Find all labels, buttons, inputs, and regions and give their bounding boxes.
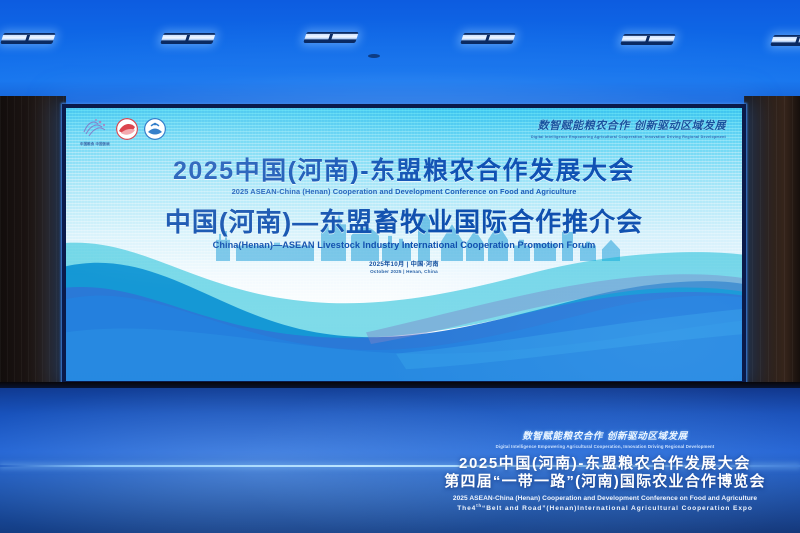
conference-title-cn: 2025中国(河南)-东盟粮农合作发展大会 xyxy=(66,158,742,184)
red-circular-emblem-logo-icon xyxy=(116,118,138,140)
ceiling-light-icon xyxy=(620,34,676,45)
ceiling-light-icon xyxy=(303,32,359,43)
screen-slogan-en: Digital Intelligence Empowering Agricult… xyxy=(531,135,726,139)
event-date-en: October 2025 | Henan, China xyxy=(66,269,742,275)
blue-circular-emblem-logo-icon xyxy=(144,118,166,140)
ceiling-light-icon xyxy=(460,33,516,44)
forum-title-cn: 中国(河南)—东盟畜牧业国际合作推介会 xyxy=(66,209,742,236)
banner-title-en-2-pre: The4 xyxy=(457,505,476,512)
logo-group xyxy=(80,116,166,142)
banner-title-cn-2: 第四届“一带一路”(河南)国际农业合作博览会 xyxy=(420,473,790,490)
wave-emblem-logo-icon xyxy=(80,116,110,142)
conference-hall-photo: 中国粮食 中国饭碗 数智赋能粮农合作 创新驱动区域发展 Digital Inte… xyxy=(0,0,800,533)
wall-panel-left xyxy=(0,96,66,418)
banner-slogan-en: Digital Intelligence Empowering Agricult… xyxy=(420,444,790,449)
banner-title-en-1: 2025 ASEAN-China (Henan) Cooperation and… xyxy=(420,495,790,502)
logo-caption: 中国粮食 中国饭碗 xyxy=(80,141,110,146)
led-screen: 中国粮食 中国饭碗 数智赋能粮农合作 创新驱动区域发展 Digital Inte… xyxy=(66,108,742,381)
ceiling xyxy=(0,0,800,112)
led-screen-frame: 中国粮食 中国饭碗 数智赋能粮农合作 创新驱动区域发展 Digital Inte… xyxy=(62,104,746,385)
screen-slogan: 数智赋能粮农合作 创新驱动区域发展 Digital Intelligence E… xyxy=(531,117,726,139)
banner-title-cn-1: 2025中国(河南)-东盟粮农合作发展大会 xyxy=(420,455,790,472)
banner-title-en-2: The4th“Belt and Road”(Henan)Internationa… xyxy=(420,503,790,512)
banner-title-en-2-post: “Belt and Road”(Henan)International Agri… xyxy=(482,505,753,512)
ceiling-light-icon xyxy=(770,35,800,46)
conference-title-en: 2025 ASEAN-China (Henan) Cooperation and… xyxy=(66,187,742,196)
ceiling-light-icon xyxy=(0,33,56,44)
event-date-block: 2025年10月 | 中国·河南 October 2025 | Henan, C… xyxy=(66,261,742,275)
screen-title-block: 2025中国(河南)-东盟粮农合作发展大会 2025 ASEAN-China (… xyxy=(66,158,742,275)
banner-slogan-cn: 数智赋能粮农合作 创新驱动区域发展 xyxy=(420,428,790,442)
screen-slogan-cn: 数智赋能粮农合作 创新驱动区域发展 xyxy=(531,117,726,133)
event-date-cn: 2025年10月 | 中国·河南 xyxy=(66,261,742,269)
wall-banner: 数智赋能粮农合作 创新驱动区域发展 Digital Intelligence E… xyxy=(420,428,790,512)
ceiling-fixture-dot-icon xyxy=(368,54,380,58)
wall-panel-right xyxy=(744,96,800,418)
forum-title-en: China(Henan)—ASEAN Livestock Industry In… xyxy=(66,240,742,250)
ceiling-light-icon xyxy=(160,33,216,44)
